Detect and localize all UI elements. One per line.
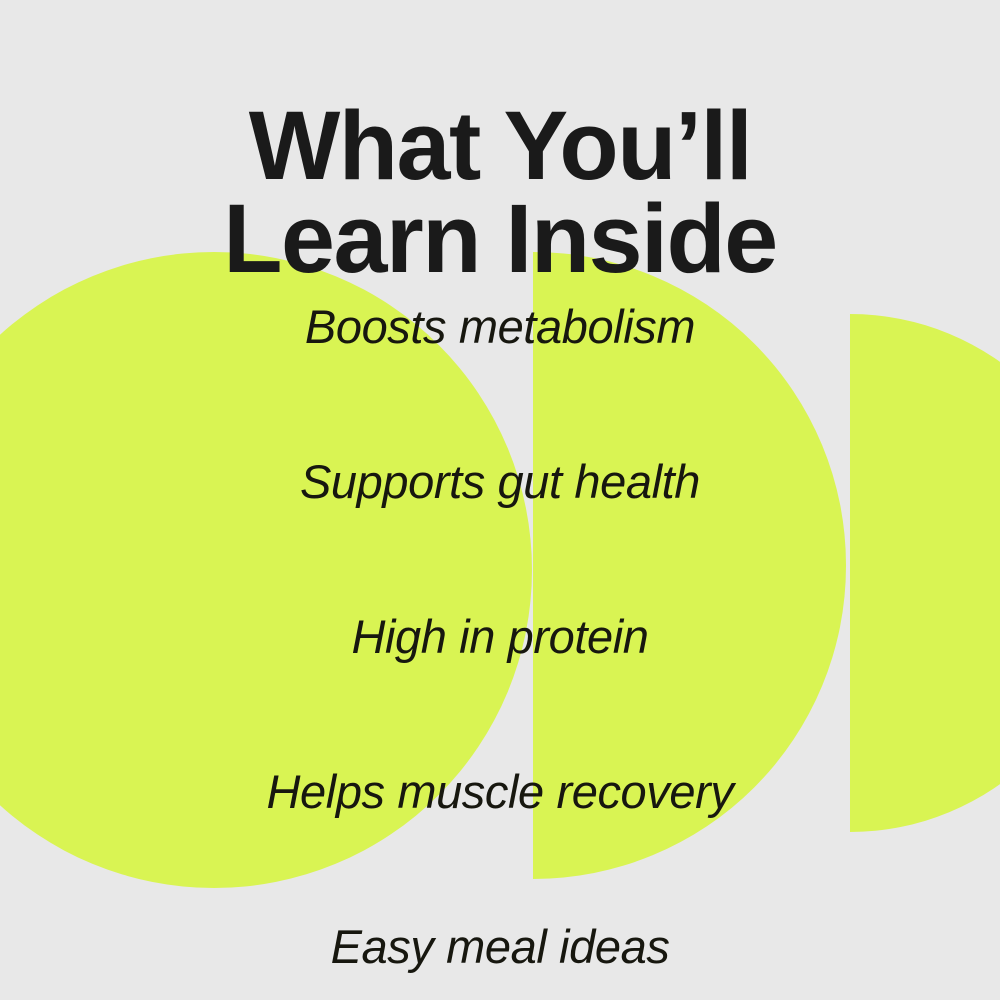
content-layer: What You’ll Learn Inside Boosts metaboli…: [0, 0, 1000, 1000]
list-item: Supports gut health: [0, 404, 1000, 559]
page-title-line-1: What You’ll: [0, 99, 1000, 192]
list-item: Easy meal ideas: [0, 869, 1000, 1000]
list-item: Boosts metabolism: [0, 249, 1000, 404]
benefit-label: Helps muscle recovery: [267, 764, 734, 819]
benefit-label: Boosts metabolism: [305, 299, 695, 354]
list-item: Helps muscle recovery: [0, 714, 1000, 869]
benefit-label: Easy meal ideas: [331, 919, 670, 974]
benefit-list: Boosts metabolism Supports gut health Hi…: [0, 249, 1000, 1000]
promo-graphic-canvas: What You’ll Learn Inside Boosts metaboli…: [0, 0, 1000, 1000]
benefit-label: High in protein: [351, 609, 648, 664]
list-item: High in protein: [0, 559, 1000, 714]
benefit-label: Supports gut health: [300, 454, 700, 509]
